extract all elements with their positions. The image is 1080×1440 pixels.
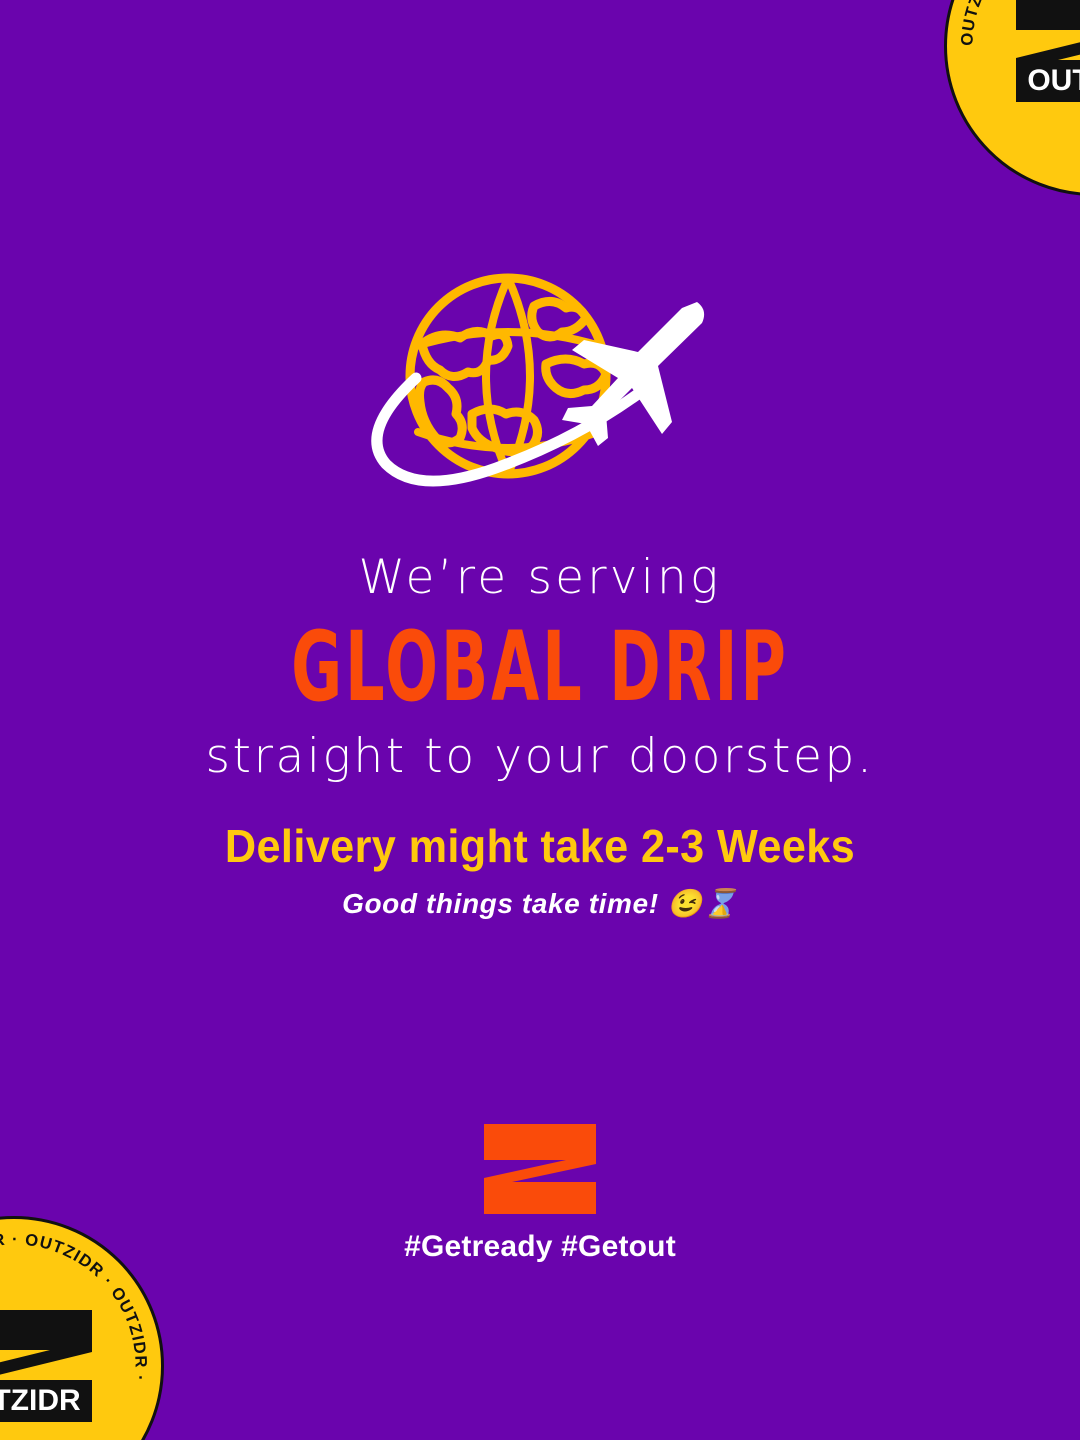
globe-icon — [410, 278, 606, 474]
headline-post: straight to your doorstep. — [0, 731, 1080, 784]
headline-hero: GLOBAL DRIP — [151, 619, 929, 715]
seal-core-bottom-left: OUTZIDR — [0, 1306, 98, 1426]
seal-core-top-right: OUTZIDR — [1010, 0, 1080, 106]
headline-pre: We’re serving — [0, 552, 1080, 605]
brand-seal-bottom-left: OUTZIDR · OUTZIDR · OUTZIDR · OUTZIDR · … — [0, 1216, 164, 1440]
promo-poster: We’re serving GLOBAL DRIP straight to yo… — [0, 0, 1080, 1440]
headline-block: We’re serving GLOBAL DRIP straight to yo… — [0, 552, 1080, 783]
delivery-subtext: Good things take time! 😉⌛ — [0, 887, 1080, 920]
delivery-time-text: Delivery might take 2-3 Weeks — [32, 820, 1047, 873]
seal-core-word-bottom-left: OUTZIDR — [0, 1384, 81, 1417]
footer-brand-block: #Getready #Getout — [0, 1120, 1080, 1264]
z-monogram-icon — [478, 1120, 602, 1218]
brand-seal-top-right: OUTZIDR · OUTZIDR · OUTZIDR · OUTZIDR · … — [944, 0, 1080, 196]
brand-tagline: #Getready #Getout — [0, 1230, 1080, 1264]
hero-illustration — [356, 272, 724, 512]
seal-core-word-top-right: OUTZIDR — [1027, 64, 1080, 97]
delivery-note-block: Delivery might take 2-3 Weeks Good thing… — [0, 820, 1080, 920]
